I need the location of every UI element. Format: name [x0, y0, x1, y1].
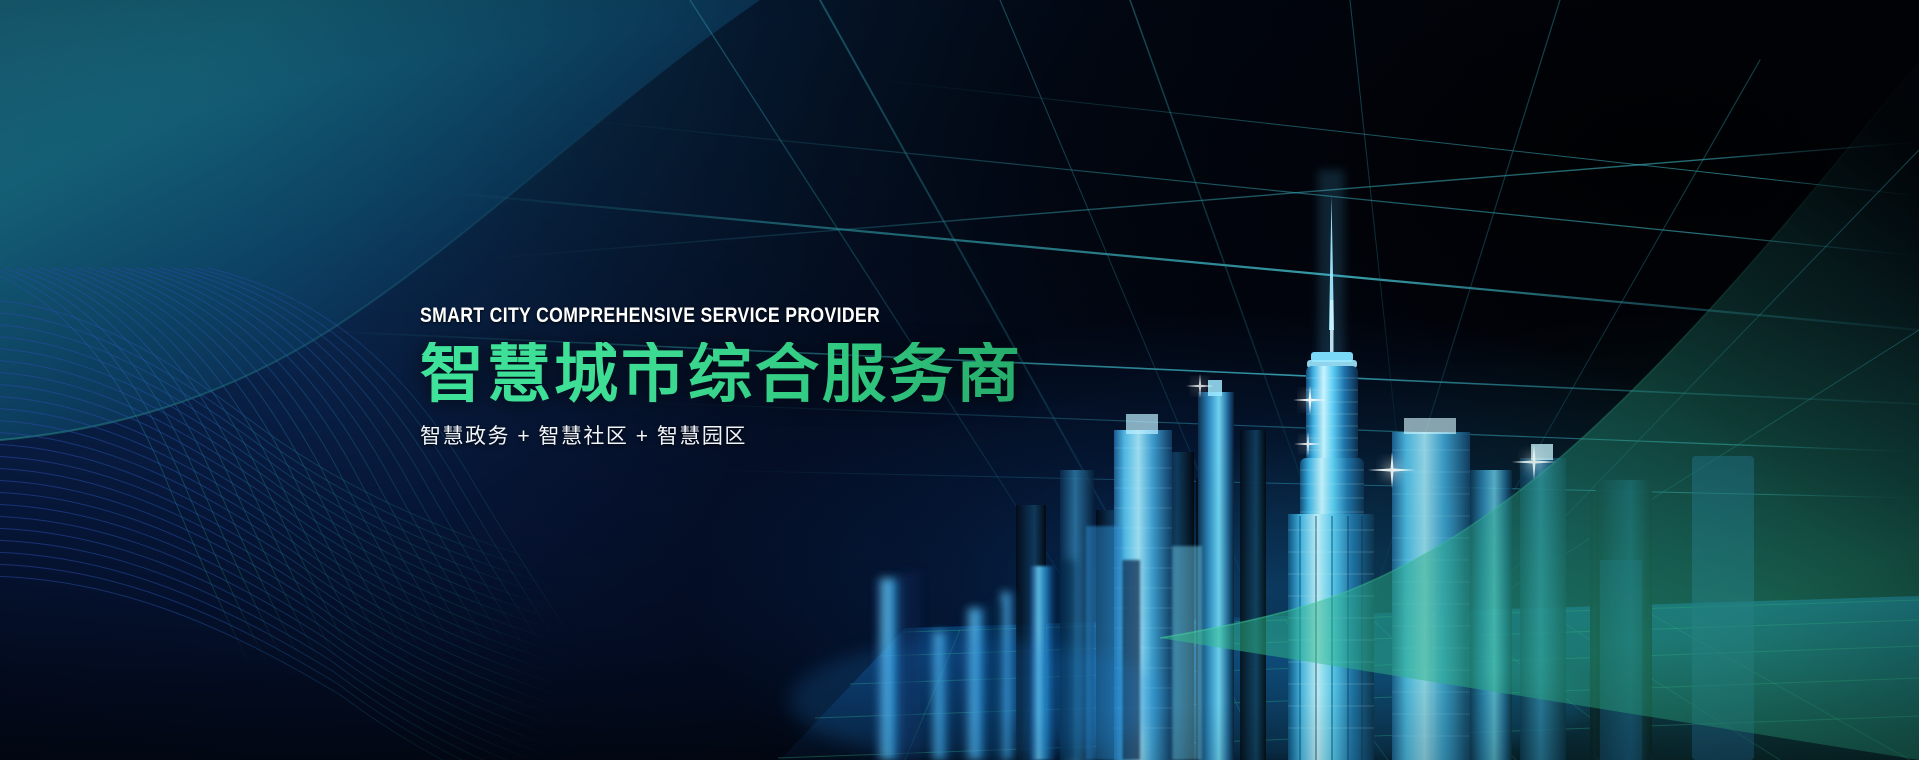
subtitle-text: 智慧政务 + 智慧社区 + 智慧园区	[420, 426, 1120, 447]
eyebrow-text: SMART CITY COMPREHENSIVE SERVICE PROVIDE…	[420, 305, 1008, 326]
page-title: 智慧城市综合服务商	[420, 342, 1120, 408]
hero-text-block: SMART CITY COMPREHENSIVE SERVICE PROVIDE…	[420, 305, 1120, 447]
smart-city-hero-banner: SMART CITY COMPREHENSIVE SERVICE PROVIDE…	[0, 0, 1919, 760]
